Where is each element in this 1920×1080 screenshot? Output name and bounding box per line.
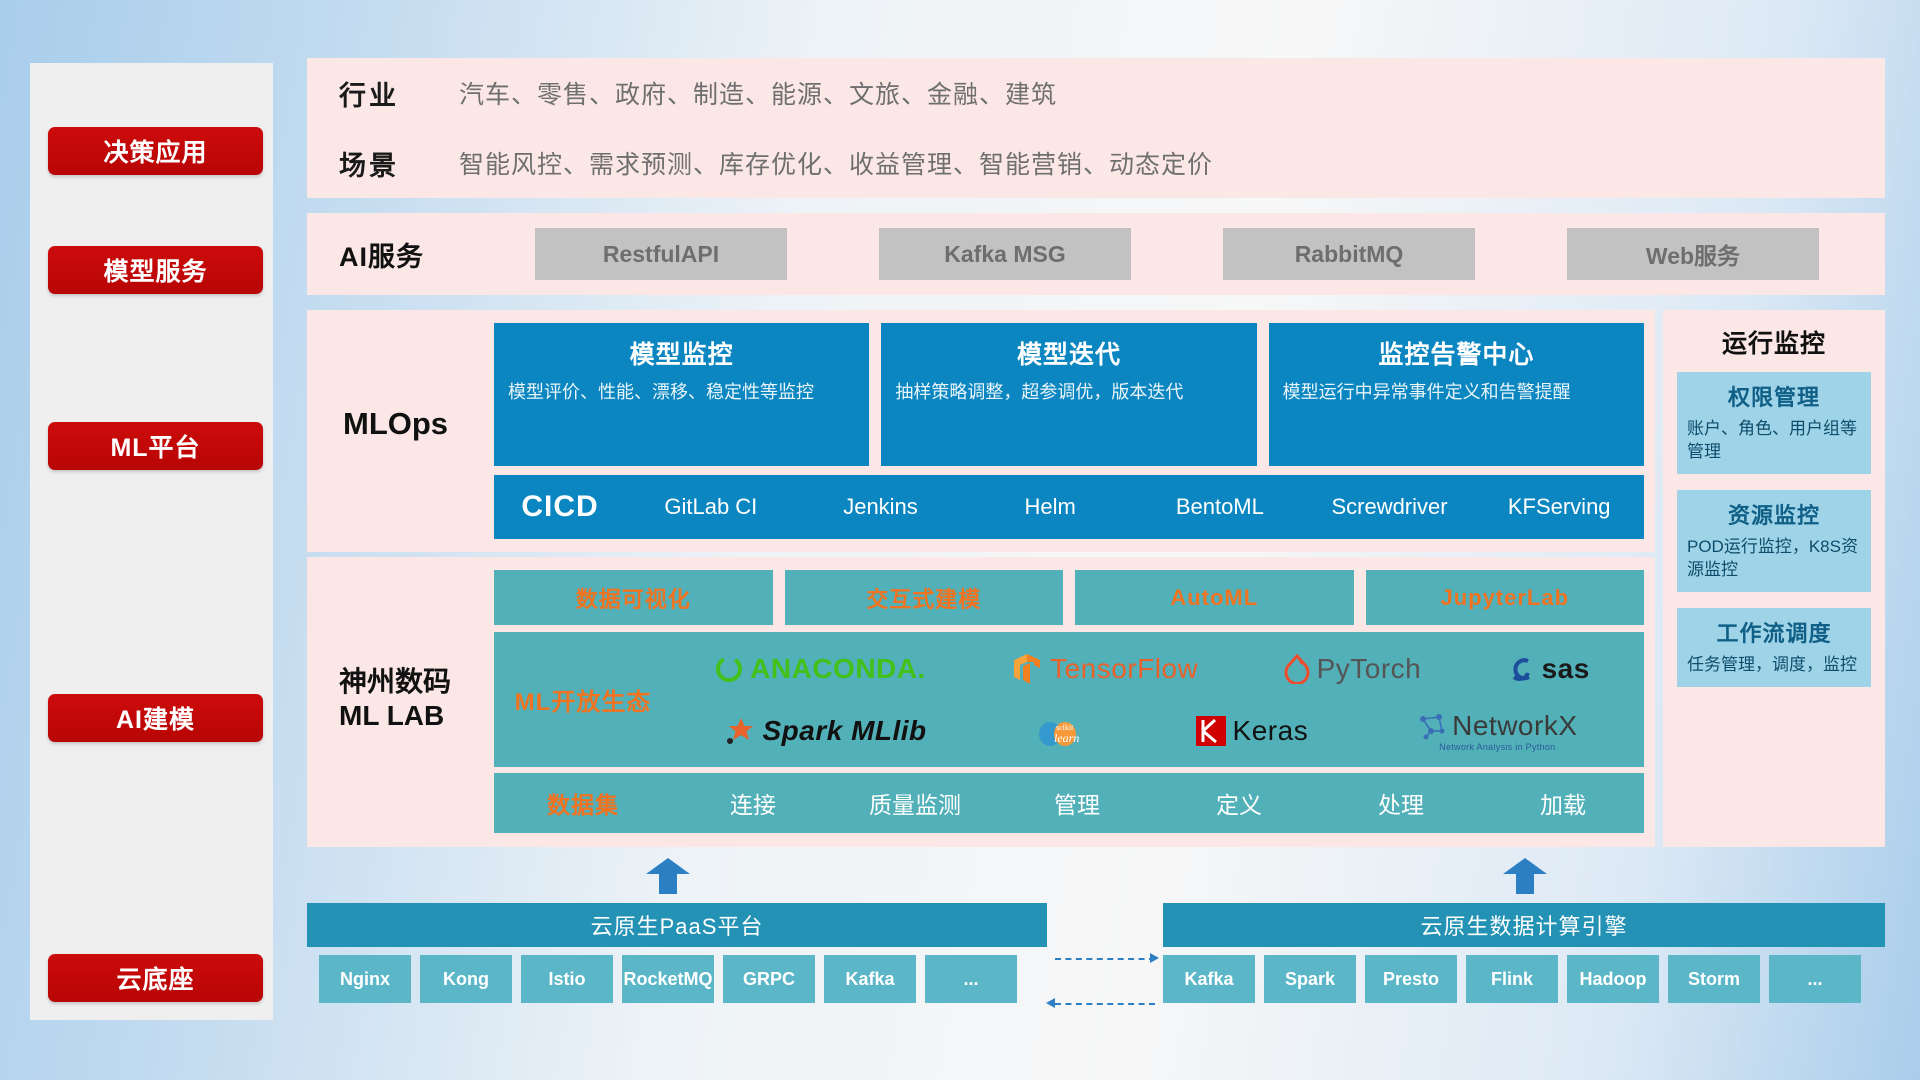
cloud-chip-more-engine[interactable]: ... [1769, 955, 1861, 1003]
anaconda-icon [714, 654, 744, 684]
sas-logo: sas [1506, 653, 1590, 685]
mlops-card-alert-center[interactable]: 监控告警中心 模型运行中异常事件定义和告警提醒 [1269, 323, 1644, 466]
dash-arrow-left [1046, 998, 1055, 1008]
dataset-item-manage[interactable]: 管理 [996, 786, 1158, 820]
dataset-item-define[interactable]: 定义 [1158, 786, 1320, 820]
ml-lab-label: 神州数码 ML LAB [339, 665, 451, 733]
card-title: 权限管理 [1687, 380, 1861, 412]
stage-label: ML平台 [110, 428, 200, 464]
cloud-chip-nginx[interactable]: Nginx [319, 955, 411, 1003]
cicd-bar: CICD GitLab CI Jenkins Helm BentoML Scre… [494, 475, 1644, 539]
keras-logo: Keras [1195, 715, 1309, 747]
industry-value: 汽车、零售、政府、制造、能源、文旅、金融、建筑 [459, 75, 1057, 111]
card-title: 工作流调度 [1687, 616, 1861, 648]
tensorflow-icon [1010, 652, 1044, 686]
card-desc: 模型运行中异常事件定义和告警提醒 [1283, 380, 1630, 404]
industry-key: 行业 [339, 74, 459, 113]
monitor-card-permission[interactable]: 权限管理 账户、角色、用户组等管理 [1677, 372, 1871, 474]
ai-service-items: RestfulAPI Kafka MSG RabbitMQ Web服务 [489, 228, 1885, 280]
spark-logo-text: Spark MLlib [762, 715, 926, 747]
runtime-monitor-panel: 运行监控 权限管理 账户、角色、用户组等管理 资源监控 POD运行监控，K8S资… [1663, 310, 1885, 847]
card-title: 模型监控 [508, 335, 855, 371]
scenario-value: 智能风控、需求预测、库存优化、收益管理、智能营销、动态定价 [459, 145, 1213, 181]
stage-chip-decision[interactable]: 决策应用 [48, 127, 263, 175]
ai-service-chip-web[interactable]: Web服务 [1567, 228, 1819, 280]
card-desc: 抽样策略调整，超参调优，版本迭代 [895, 380, 1242, 404]
mlops-card-group: 模型监控 模型评价、性能、漂移、稳定性等监控 模型迭代 抽样策略调整，超参调优，… [494, 323, 1644, 466]
engine-chip-row: Kafka Spark Presto Flink Hadoop Storm ..… [1163, 955, 1861, 1003]
dashed-link-right [1055, 958, 1155, 960]
scenario-row: 场景 智能风控、需求预测、库存优化、收益管理、智能营销、动态定价 [307, 128, 1885, 198]
dashed-link-left [1055, 1003, 1155, 1005]
stage-chip-cloud-base[interactable]: 云底座 [48, 954, 263, 1002]
dataset-item-process[interactable]: 处理 [1320, 786, 1482, 820]
cloud-chip-kong[interactable]: Kong [420, 955, 512, 1003]
ml-ecosystem-logos: ANACONDA. TensorFlow [672, 640, 1644, 760]
mlops-label: MLOps [343, 406, 448, 442]
sas-icon [1506, 654, 1536, 684]
arrow-up-engine [1503, 858, 1547, 894]
tool-chip-jupyterlab[interactable]: JupyterLab [1366, 570, 1645, 625]
cloud-chip-hadoop[interactable]: Hadoop [1567, 955, 1659, 1003]
tool-chip-data-visualization[interactable]: 数据可视化 [494, 570, 773, 625]
tool-chip-interactive-modeling[interactable]: 交互式建模 [785, 570, 1064, 625]
logo-row-2: Spark MLlib scikit learn [672, 702, 1632, 760]
architecture-diagram: 决策应用 模型服务 ML平台 AI建模 云底座 行业 汽车、零售、政府、制造、能… [0, 0, 1920, 1080]
ml-lab-label-line2: ML LAB [339, 699, 451, 733]
ml-ecosystem-label: ML开放生态 [494, 682, 672, 717]
cicd-item-screwdriver[interactable]: Screwdriver [1305, 495, 1475, 518]
runtime-monitor-title: 运行监控 [1663, 310, 1885, 372]
cloud-chip-storm[interactable]: Storm [1668, 955, 1760, 1003]
dataset-label: 数据集 [494, 786, 672, 820]
cloud-chip-more[interactable]: ... [925, 955, 1017, 1003]
pytorch-icon [1283, 654, 1311, 684]
industry-scenario-panel: 行业 汽车、零售、政府、制造、能源、文旅、金融、建筑 场景 智能风控、需求预测、… [307, 58, 1885, 198]
scikit-learn-logo: scikit learn [1036, 715, 1086, 747]
ai-modeling-panel: 神州数码 ML LAB 数据可视化 交互式建模 AutoML JupyterLa… [307, 557, 1655, 847]
mlops-card-model-monitor[interactable]: 模型监控 模型评价、性能、漂移、稳定性等监控 [494, 323, 869, 466]
networkx-logo: NetworkX Network Analysis in Python [1417, 710, 1577, 752]
ai-service-chip-restfulapi[interactable]: RestfulAPI [535, 228, 787, 280]
cicd-item-gitlab-ci[interactable]: GitLab CI [626, 495, 796, 518]
card-desc: POD运行监控，K8S资源监控 [1687, 536, 1861, 582]
anaconda-logo-text: ANACONDA. [750, 653, 926, 685]
ai-service-chip-rabbitmq[interactable]: RabbitMQ [1223, 228, 1475, 280]
dataset-items: 连接 质量监测 管理 定义 处理 加载 [672, 786, 1644, 820]
sas-logo-text: sas [1542, 653, 1590, 685]
cicd-item-bentoml[interactable]: BentoML [1135, 495, 1305, 518]
cicd-item-jenkins[interactable]: Jenkins [796, 495, 966, 518]
cloud-chip-istio[interactable]: Istio [521, 955, 613, 1003]
cloud-chip-spark[interactable]: Spark [1264, 955, 1356, 1003]
industry-row: 行业 汽车、零售、政府、制造、能源、文旅、金融、建筑 [307, 58, 1885, 128]
keras-icon [1195, 715, 1227, 747]
ai-service-chip-kafka-msg[interactable]: Kafka MSG [879, 228, 1131, 280]
cicd-item-kfserving[interactable]: KFServing [1474, 495, 1644, 518]
stage-label: 模型服务 [103, 252, 207, 288]
ml-lab-label-line1: 神州数码 [339, 665, 451, 699]
card-desc: 模型评价、性能、漂移、稳定性等监控 [508, 380, 855, 404]
card-desc: 任务管理，调度，监控 [1687, 654, 1861, 677]
logo-row-1: ANACONDA. TensorFlow [672, 640, 1632, 698]
stage-chip-ml-platform[interactable]: ML平台 [48, 422, 263, 470]
ml-ecosystem-bar: ML开放生态 ANACONDA. [494, 632, 1644, 767]
stage-rail [30, 63, 273, 1020]
pytorch-logo-text: PyTorch [1317, 653, 1422, 685]
cicd-item-helm[interactable]: Helm [965, 495, 1135, 518]
cicd-items: GitLab CI Jenkins Helm BentoML Screwdriv… [626, 495, 1644, 518]
cloud-chip-grpc[interactable]: GRPC [723, 955, 815, 1003]
card-title: 模型迭代 [895, 335, 1242, 371]
cloud-chip-kafka-engine[interactable]: Kafka [1163, 955, 1255, 1003]
monitor-card-resource[interactable]: 资源监控 POD运行监控，K8S资源监控 [1677, 490, 1871, 592]
card-desc: 账户、角色、用户组等管理 [1687, 418, 1861, 464]
dataset-item-quality[interactable]: 质量监测 [834, 786, 996, 820]
dataset-item-connect[interactable]: 连接 [672, 786, 834, 820]
scikit-learn-icon: scikit learn [1036, 715, 1086, 747]
keras-logo-text: Keras [1233, 715, 1309, 747]
cicd-title: CICD [494, 490, 626, 524]
data-engine-bar[interactable]: 云原生数据计算引擎 [1163, 903, 1885, 947]
networkx-icon [1417, 711, 1447, 741]
monitor-card-workflow[interactable]: 工作流调度 任务管理，调度，监控 [1677, 608, 1871, 687]
paas-platform-bar[interactable]: 云原生PaaS平台 [307, 903, 1047, 947]
stage-chip-model-serve[interactable]: 模型服务 [48, 246, 263, 294]
card-title: 资源监控 [1687, 498, 1861, 530]
cloud-chip-presto[interactable]: Presto [1365, 955, 1457, 1003]
tensorflow-logo-text: TensorFlow [1050, 653, 1198, 685]
stage-label: AI建模 [116, 700, 195, 736]
spark-mllib-logo: Spark MLlib [726, 715, 926, 747]
svg-text:learn: learn [1054, 731, 1079, 745]
mlops-card-model-iteration[interactable]: 模型迭代 抽样策略调整，超参调优，版本迭代 [881, 323, 1256, 466]
ai-service-panel: AI服务 RestfulAPI Kafka MSG RabbitMQ Web服务 [307, 213, 1885, 295]
stage-label: 决策应用 [103, 133, 207, 169]
paas-chip-row: Nginx Kong Istio RocketMQ GRPC Kafka ... [319, 955, 1017, 1003]
cloud-chip-rocketmq[interactable]: RocketMQ [622, 955, 714, 1003]
dataset-bar: 数据集 连接 质量监测 管理 定义 处理 加载 [494, 773, 1644, 833]
pytorch-logo: PyTorch [1283, 653, 1422, 685]
card-title: 监控告警中心 [1283, 335, 1630, 371]
mlops-panel: MLOps 模型监控 模型评价、性能、漂移、稳定性等监控 模型迭代 抽样策略调整… [307, 310, 1655, 552]
anaconda-logo: ANACONDA. [714, 653, 926, 685]
ai-service-label: AI服务 [339, 235, 489, 274]
networkx-logo-text: NetworkX [1452, 710, 1577, 742]
tensorflow-logo: TensorFlow [1010, 652, 1198, 686]
cloud-chip-kafka[interactable]: Kafka [824, 955, 916, 1003]
arrow-up-paas [646, 858, 690, 894]
modeling-tools-row: 数据可视化 交互式建模 AutoML JupyterLab [494, 570, 1644, 625]
dataset-item-load[interactable]: 加载 [1482, 786, 1644, 820]
scenario-key: 场景 [339, 144, 459, 183]
dash-arrow-right [1150, 953, 1159, 963]
apache-spark-icon [726, 717, 756, 745]
networkx-tagline: Network Analysis in Python [1439, 742, 1555, 752]
stage-label: 云底座 [116, 960, 194, 996]
cloud-chip-flink[interactable]: Flink [1466, 955, 1558, 1003]
stage-chip-ai-modeling[interactable]: AI建模 [48, 694, 263, 742]
tool-chip-automl[interactable]: AutoML [1075, 570, 1354, 625]
